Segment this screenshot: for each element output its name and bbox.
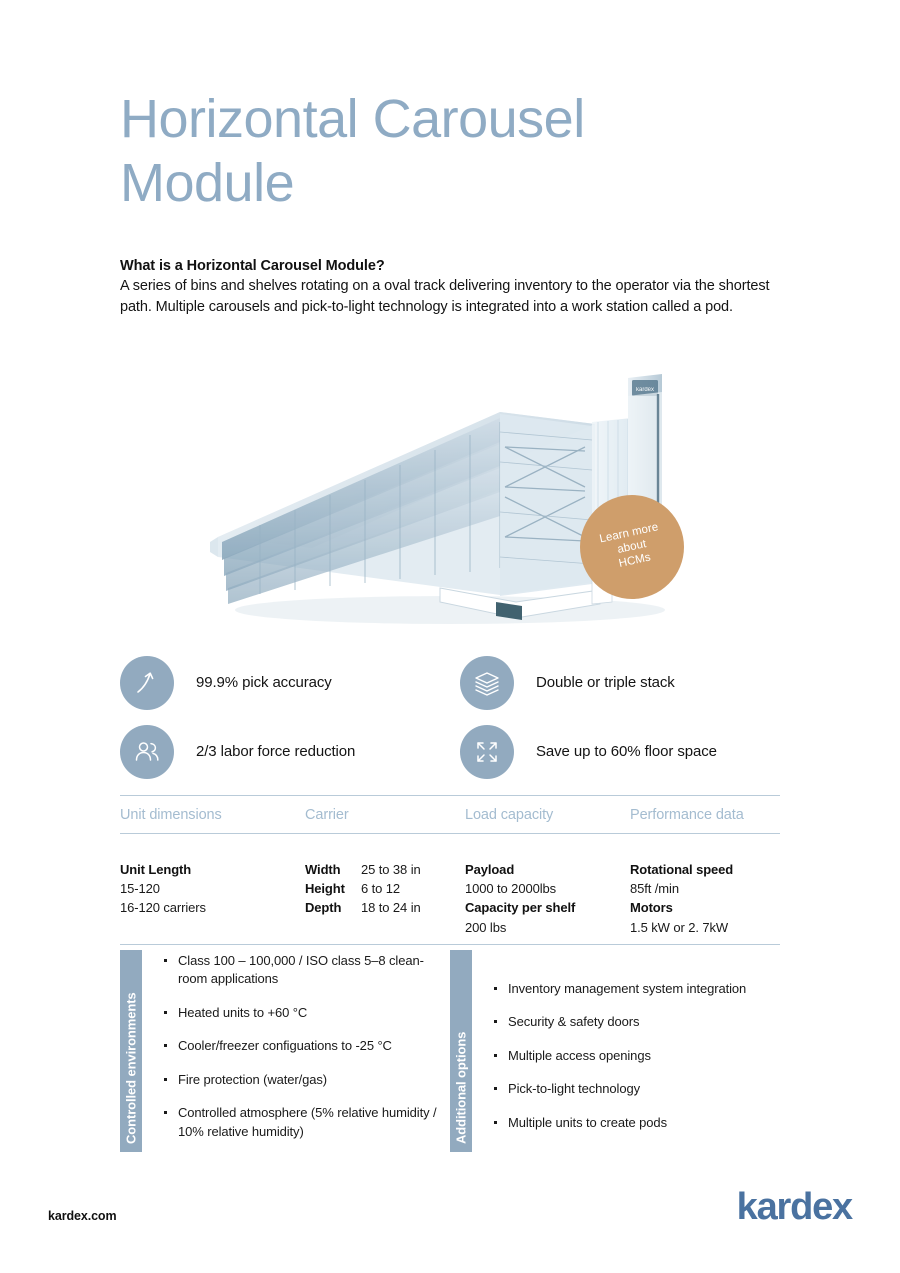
spec-value: 6 to 12: [361, 879, 465, 898]
feature-item-labor-reduction: 2/3 labor force reduction: [120, 725, 460, 779]
list-item: Cooler/freezer configuations to -25 °C: [164, 1037, 450, 1055]
learn-more-badge[interactable]: Learn more about HCMs: [580, 495, 684, 599]
list-item: Multiple units to create pods: [494, 1114, 746, 1132]
column-header-carrier: Carrier: [305, 807, 465, 823]
trend-up-arrow-icon: [120, 656, 174, 710]
intro-heading: What is a Horizontal Carousel Module?: [120, 258, 785, 274]
spec-key: Depth: [305, 898, 361, 917]
spec-key: Width: [305, 860, 361, 879]
title-line-2: Module: [120, 152, 820, 216]
column-header-load-capacity: Load capacity: [465, 807, 630, 823]
kardex-logo: kardex: [737, 1186, 852, 1229]
spec-key: Height: [305, 879, 361, 898]
options-panels: Controlled environments Class 100 – 100,…: [120, 950, 800, 1156]
spec-value: 25 to 38 in: [361, 860, 465, 879]
panel-tab-label: Additional options: [454, 1032, 469, 1144]
spec-value: 1.5 kW or 2. 7kW: [630, 918, 780, 937]
specification-table: Unit dimensions Carrier Load capacity Pe…: [120, 795, 780, 937]
spec-column-performance-data: Rotational speed 85ft /min Motors 1.5 kW…: [630, 860, 780, 937]
footer-website-url[interactable]: kardex.com: [48, 1209, 116, 1223]
spec-value: 15-120: [120, 879, 305, 898]
panel-list-controlled-environments: Class 100 – 100,000 / ISO class 5–8 clea…: [142, 950, 450, 1156]
title-line-1: Horizontal Carousel: [120, 88, 820, 152]
spec-pair: Height 6 to 12: [305, 879, 465, 898]
panel-additional-options: Additional options Inventory management …: [450, 950, 800, 1156]
column-header-performance-data: Performance data: [630, 807, 780, 823]
spec-value: 18 to 24 in: [361, 898, 465, 917]
spec-value: 16-120 carriers: [120, 898, 305, 917]
brochure-page: Horizontal Carousel Module What is a Hor…: [0, 0, 900, 1273]
list-item: Security & safety doors: [494, 1013, 746, 1031]
panel-controlled-environments: Controlled environments Class 100 – 100,…: [120, 950, 450, 1156]
list-item: Controlled atmosphere (5% relative humid…: [164, 1104, 450, 1141]
spec-column-unit-dimensions: Unit Length 15-120 16-120 carriers: [120, 860, 305, 937]
table-body-row: Unit Length 15-120 16-120 carriers Width…: [120, 834, 780, 937]
feature-item-floor-space: Save up to 60% floor space: [460, 725, 800, 779]
column-header-unit-dimensions: Unit dimensions: [120, 807, 305, 823]
feature-item-double-triple-stack: Double or triple stack: [460, 656, 800, 710]
panel-tab-controlled-environments: Controlled environments: [120, 950, 142, 1152]
people-icon: [120, 725, 174, 779]
panel-tab-label: Controlled environments: [124, 992, 139, 1144]
learn-more-badge-text: Learn more about HCMs: [598, 520, 665, 574]
panel-list-additional-options: Inventory management system integration …: [472, 950, 746, 1156]
spec-value: 1000 to 2000lbs: [465, 879, 630, 898]
spec-value: 200 lbs: [465, 918, 630, 937]
list-item: Multiple access openings: [494, 1047, 746, 1065]
intro-body: A series of bins and shelves rotating on…: [120, 276, 785, 317]
feature-item-pick-accuracy: 99.9% pick accuracy: [120, 656, 460, 710]
spec-pair: Width 25 to 38 in: [305, 860, 465, 879]
spec-key: Rotational speed: [630, 860, 780, 879]
table-header-row: Unit dimensions Carrier Load capacity Pe…: [120, 796, 780, 833]
list-item: Inventory management system integration: [494, 980, 746, 998]
spec-key: Payload: [465, 860, 630, 879]
feature-label: Double or triple stack: [536, 674, 675, 691]
feature-label: 99.9% pick accuracy: [196, 674, 332, 691]
spec-key: Capacity per shelf: [465, 898, 630, 917]
expand-arrows-icon: [460, 725, 514, 779]
feature-label: Save up to 60% floor space: [536, 743, 717, 760]
layers-stack-icon: [460, 656, 514, 710]
feature-highlights: 99.9% pick accuracy Double or triple sta…: [120, 648, 800, 786]
list-item: Fire protection (water/gas): [164, 1071, 450, 1089]
page-title: Horizontal Carousel Module: [120, 88, 820, 215]
feature-label: 2/3 labor force reduction: [196, 743, 355, 760]
svg-text:kardex: kardex: [636, 387, 654, 393]
list-item: Heated units to +60 °C: [164, 1004, 450, 1022]
spec-pair: Depth 18 to 24 in: [305, 898, 465, 917]
spec-key: Motors: [630, 898, 780, 917]
intro-section: What is a Horizontal Carousel Module? A …: [120, 258, 785, 317]
spec-column-carrier: Width 25 to 38 in Height 6 to 12 Depth 1…: [305, 860, 465, 937]
panel-tab-additional-options: Additional options: [450, 950, 472, 1152]
spec-value: 85ft /min: [630, 879, 780, 898]
spec-column-load-capacity: Payload 1000 to 2000lbs Capacity per she…: [465, 860, 630, 937]
list-item: Class 100 – 100,000 / ISO class 5–8 clea…: [164, 952, 450, 989]
spec-value: Unit Length: [120, 860, 305, 879]
table-bottom-rule: [120, 944, 780, 945]
list-item: Pick-to-light technology: [494, 1080, 746, 1098]
